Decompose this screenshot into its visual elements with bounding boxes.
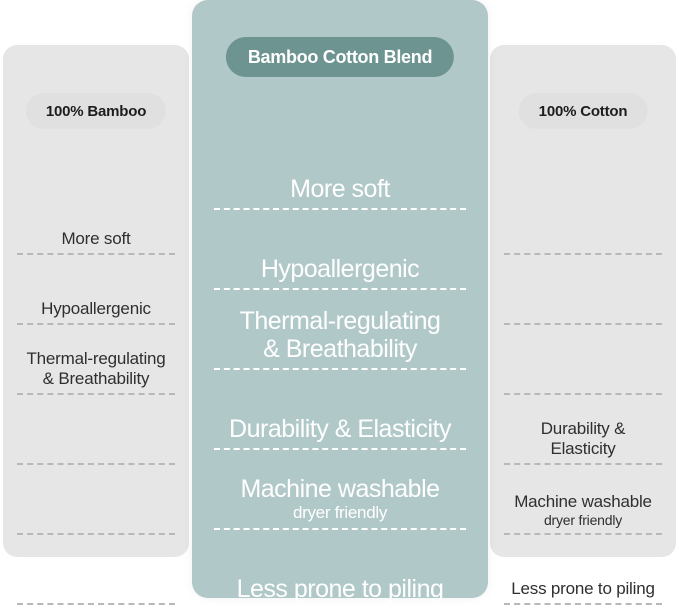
comparison-table: 100% Bamboo More soft Hypoallergenic The… [0,0,679,602]
feature-row: Durability & Elasticity [214,370,466,450]
feature-label: Durability &Elasticity [541,419,626,459]
feature-label: More soft [290,176,390,204]
column-panel-cotton: 100% Cotton Durability &Elasticity Machi… [490,45,676,557]
column-panel-blend: Bamboo Cotton Blend More soft Hypoallerg… [192,0,488,598]
feature-sublabel: dryer friendly [544,512,622,529]
feature-row [17,395,175,465]
feature-sublabel: dryer friendly [293,503,387,523]
feature-row [504,255,662,325]
feature-row: Hypoallergenic [17,255,175,325]
feature-row [17,465,175,535]
feature-row: Durability &Elasticity [504,395,662,465]
feature-label: Thermal-regulating& Breathability [240,308,441,363]
feature-label: Machine washable [240,476,439,504]
feature-label: Durability & Elasticity [229,416,451,444]
feature-label: Less prone to piling [237,576,444,604]
feature-label: Hypoallergenic [41,299,151,319]
feature-label: Hypoallergenic [261,256,419,284]
feature-row [504,185,662,255]
feature-row: More soft [214,130,466,210]
column-badge-bamboo: 100% Bamboo [26,93,166,129]
feature-label: Machine washable [514,492,652,512]
feature-row: Machine washable dryer friendly [504,465,662,535]
feature-row: Hypoallergenic [214,210,466,290]
column-badge-cotton: 100% Cotton [519,93,648,129]
feature-label: Less prone to piling [511,579,654,599]
feature-row: Thermal-regulating& Breathability [17,325,175,395]
feature-row: Thermal-regulating& Breathability [214,290,466,370]
feature-row: Less prone to piling [504,535,662,605]
column-panel-bamboo: 100% Bamboo More soft Hypoallergenic The… [3,45,189,557]
feature-rows-bamboo: More soft Hypoallergenic Thermal-regulat… [3,185,189,605]
feature-label: Thermal-regulating& Breathability [26,349,165,389]
feature-row: Machine washable dryer friendly [214,450,466,530]
feature-row: More soft [17,185,175,255]
column-badge-blend: Bamboo Cotton Blend [226,37,454,77]
feature-rows-cotton: Durability &Elasticity Machine washable … [490,185,676,605]
feature-row: Less prone to piling [214,530,466,610]
feature-rows-blend: More soft Hypoallergenic Thermal-regulat… [192,130,488,610]
feature-row [17,535,175,605]
feature-label: More soft [61,229,130,249]
feature-row [504,325,662,395]
